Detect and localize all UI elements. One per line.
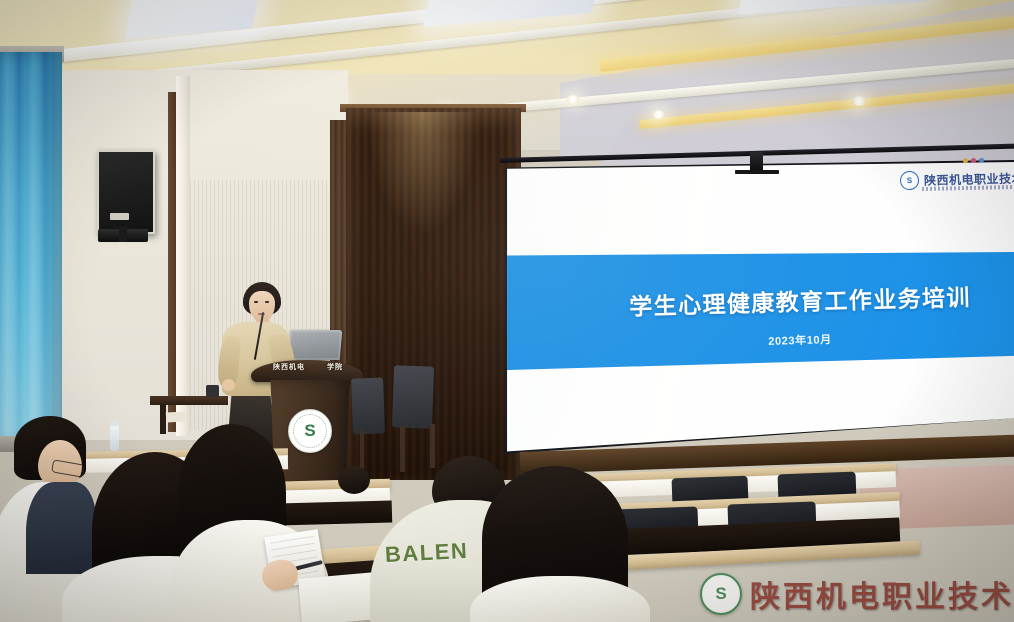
jacket-brand-text: BALEN xyxy=(384,538,469,568)
conference-chair xyxy=(392,365,434,428)
wood-wall-highlight xyxy=(368,112,478,232)
podium-emblem: S xyxy=(288,409,332,453)
chair-leg xyxy=(430,424,435,468)
projector-mount-bracket xyxy=(750,152,763,172)
wall-pillar xyxy=(176,76,190,436)
speaker-arm xyxy=(119,226,127,242)
window-curtain xyxy=(0,52,62,448)
water-bottle xyxy=(110,425,119,451)
downlight-icon xyxy=(566,95,580,104)
speaker-hand-left xyxy=(222,379,235,391)
slide-logo-dots xyxy=(963,158,984,163)
chair-leg xyxy=(400,426,405,472)
speaker-eye xyxy=(254,301,258,303)
downlight-icon xyxy=(852,96,866,106)
podium-laptop xyxy=(288,330,343,360)
podium-top-text: 陕西机电 学院 xyxy=(262,362,354,372)
speaker-eye xyxy=(265,301,269,303)
downlight-icon xyxy=(652,110,665,119)
chair-leg xyxy=(360,430,364,470)
podium-text-left: 陕西机电 xyxy=(273,362,305,372)
water-bottle-cap xyxy=(111,420,118,426)
audience-head xyxy=(338,466,370,494)
audience-vest xyxy=(26,482,96,574)
desk-device xyxy=(206,385,219,397)
wall-speaker xyxy=(97,150,155,234)
watermark-seal-icon: S xyxy=(700,573,742,615)
watermark: S 陕西机电职业技术学院 xyxy=(700,572,1014,616)
slide-logo-mark: S xyxy=(900,170,919,189)
watermark-text: 陕西机电职业技术学院 xyxy=(750,572,1014,616)
podium-text-right: 学院 xyxy=(327,362,343,372)
projector-mount-bar xyxy=(735,170,779,174)
watermark-seal-glyph: S xyxy=(715,584,726,604)
paper-stack xyxy=(166,411,186,422)
emblem-ring xyxy=(293,414,327,448)
speaker-badge xyxy=(110,213,129,220)
conference-chair xyxy=(351,377,385,434)
photo-scene: 学生心理健康教育工作业务培训 2023年10月 S 陕西机电职业技术 陕西机电 … xyxy=(0,0,1014,622)
